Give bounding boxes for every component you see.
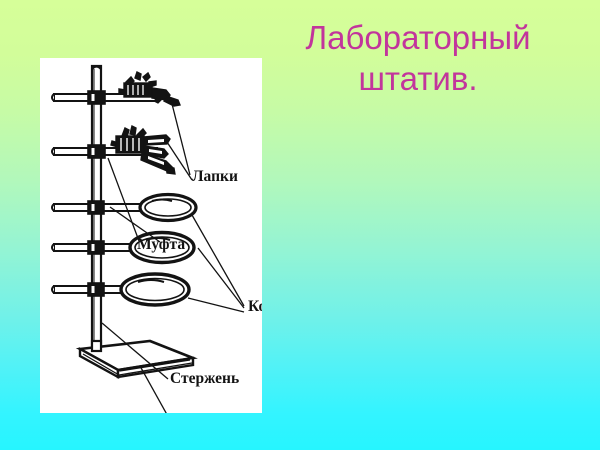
label-mufta: Муфта bbox=[137, 236, 185, 253]
coupling-1 bbox=[88, 91, 105, 104]
coupling-4 bbox=[88, 241, 104, 254]
diagram-panel: Лапки Муфта Кольца Стержень Подставка bbox=[40, 58, 262, 413]
coupling-5 bbox=[88, 283, 104, 296]
page-title: Лабораторный штатив. bbox=[248, 18, 588, 100]
label-lapki: Лапки bbox=[192, 168, 238, 185]
label-koltsa: Кольца bbox=[248, 298, 262, 315]
retort-stand-diagram: Лапки Муфта Кольца Стержень Подставка bbox=[40, 58, 262, 413]
slide-canvas: Лабораторный штатив. bbox=[0, 0, 600, 450]
ring-3 bbox=[52, 274, 189, 305]
coupling-3 bbox=[88, 201, 104, 214]
label-sterzhen: Стержень bbox=[170, 370, 239, 387]
clamp-lower bbox=[111, 126, 175, 174]
coupling-2 bbox=[88, 145, 105, 158]
